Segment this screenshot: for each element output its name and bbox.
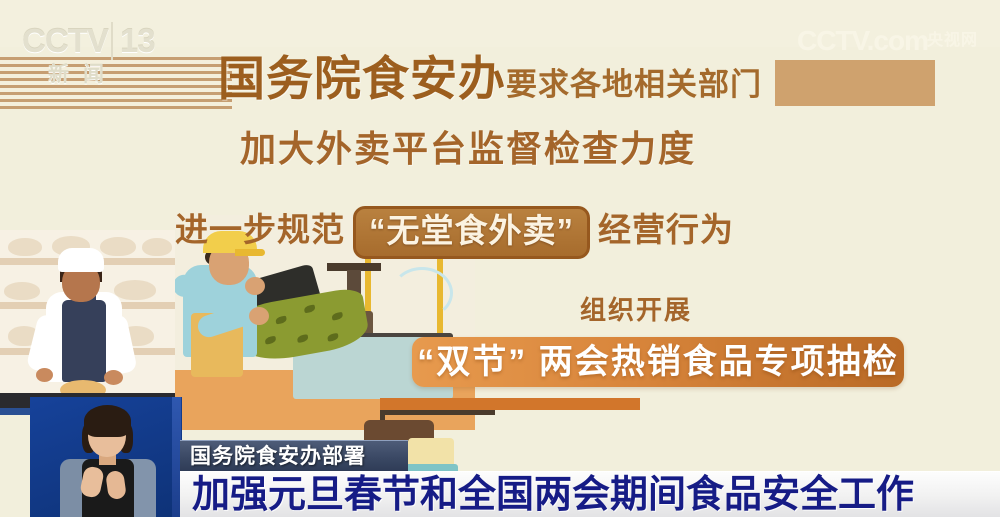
headline-pill-inspection: “双节” 两会热销食品专项抽检 <box>412 337 904 387</box>
cctv-logo-letters: CCTV <box>22 22 108 59</box>
headline-emphasis: 国务院食安办 <box>218 52 506 105</box>
cctv-logo: CCTV13 <box>22 22 200 62</box>
decorative-tan-block <box>775 60 935 106</box>
cctv-logo-subtitle: 新闻 <box>48 58 118 88</box>
lower-third-subtitle-label: 国务院食安办部署 <box>180 441 408 472</box>
headline-line-3: 进一步规范“无堂食外卖”经营行为 <box>175 203 734 259</box>
headline-line-4: 组织开展 <box>580 290 692 327</box>
watermark-cn-label: 央视网 <box>927 26 978 50</box>
bakery-illustration <box>0 230 175 415</box>
headline-line-2: 加大外卖平台监督检查力度 <box>240 120 696 172</box>
lower-third-subtitle: 国务院食安办部署 <box>180 440 408 473</box>
watermark: 央视网 CCTV.com <box>797 26 982 66</box>
kitchen-equipment-illustration <box>380 398 640 478</box>
cctv-logo-text: CCTV13 <box>22 22 200 60</box>
lower-third-title: 加强元旦春节和全国两会期间食品安全工作 <box>180 471 1000 517</box>
interpreter-hair <box>84 405 131 437</box>
headline-line-1: 国务院食安办要求各地相关部门 <box>218 50 762 108</box>
cctv-logo-channel-number: 13 <box>111 22 155 60</box>
headline-pill-no-dine-in: “无堂食外卖” <box>353 206 590 259</box>
headline-pill-inspection-label: “双节” 两会热销食品专项抽检 <box>412 337 904 387</box>
headline-line-3-after: 经营行为 <box>598 211 734 248</box>
sign-language-interpreter-inset <box>30 397 182 517</box>
lower-third-title-label: 加强元旦春节和全国两会期间食品安全工作 <box>180 472 1000 517</box>
headline-line-1-rest: 要求各地相关部门 <box>506 67 762 102</box>
broadcast-screenshot: CCTV13 新闻 央视网 CCTV.com <box>0 0 1000 517</box>
headline-line-3-before: 进一步规范 <box>175 211 345 248</box>
